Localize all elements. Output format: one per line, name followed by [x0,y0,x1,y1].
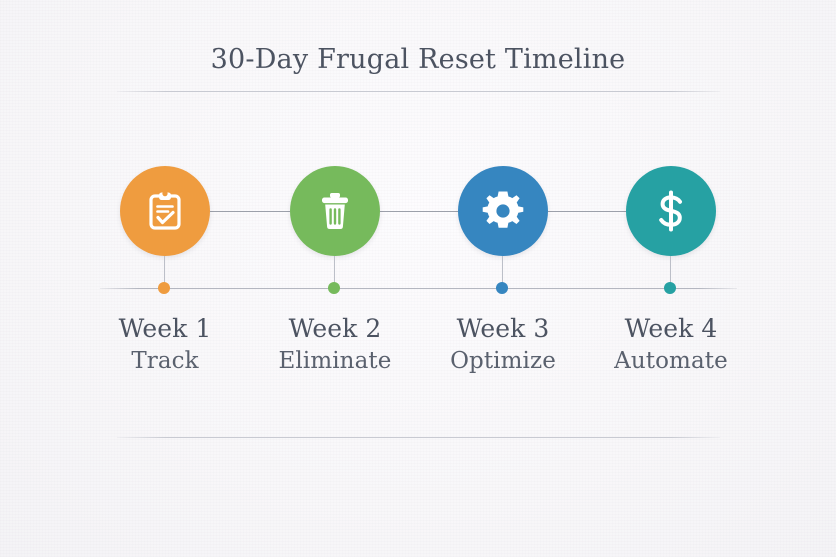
step-icon-circle[interactable] [120,166,210,256]
step-phase-label: Automate [581,345,761,378]
step-stem [670,256,671,284]
timeline-dot [328,282,340,294]
timeline-dot [158,282,170,294]
step-stem [502,256,503,284]
step-stem [164,256,165,284]
timeline-step-week-3[interactable]: Week 3 Optimize [413,0,593,557]
step-week-label: Week 4 [581,312,761,345]
timeline-step-week-1[interactable]: Week 1 Track [75,0,255,557]
timeline-step-week-2[interactable]: Week 2 Eliminate [245,0,425,557]
dollar-sign-icon [648,188,694,234]
step-icon-circle[interactable] [626,166,716,256]
step-labels: Week 4 Automate [581,312,761,378]
step-phase-label: Eliminate [245,345,425,378]
step-icon-circle[interactable] [458,166,548,256]
step-stem [334,256,335,284]
step-icon-circle[interactable] [290,166,380,256]
step-phase-label: Track [75,345,255,378]
timeline-dot [664,282,676,294]
timeline-step-week-4[interactable]: Week 4 Automate [581,0,761,557]
step-labels: Week 3 Optimize [413,312,593,378]
clipboard-check-icon [142,188,188,234]
step-labels: Week 1 Track [75,312,255,378]
step-labels: Week 2 Eliminate [245,312,425,378]
step-week-label: Week 1 [75,312,255,345]
trash-can-icon [312,188,358,234]
timeline-dot [496,282,508,294]
step-week-label: Week 2 [245,312,425,345]
timeline-infographic: 30-Day Frugal Reset Timeline Week 1 T [0,0,836,557]
step-phase-label: Optimize [413,345,593,378]
step-week-label: Week 3 [413,312,593,345]
gear-icon [480,188,526,234]
